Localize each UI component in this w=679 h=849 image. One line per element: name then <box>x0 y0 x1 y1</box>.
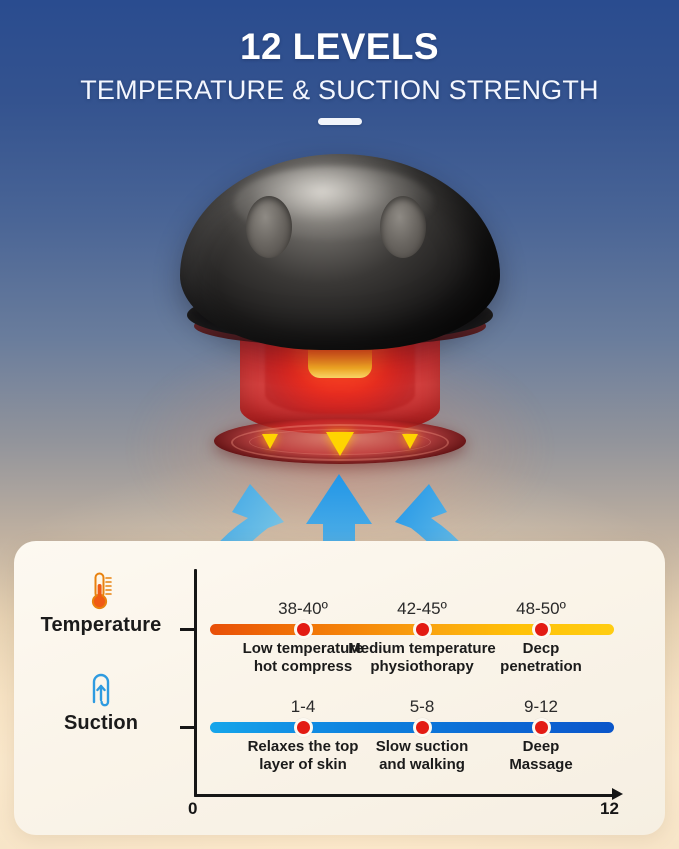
infographic-page: 12 LEVELS TEMPERATURE & SUCTION STRENGTH <box>0 0 679 849</box>
vent-hole-icon <box>246 196 292 258</box>
temperature-marker-2[interactable] <box>413 620 432 639</box>
chart-x-axis <box>194 794 614 797</box>
y-axis-tick-temperature <box>180 628 194 631</box>
suction-value-2: 5-8 <box>410 697 435 717</box>
page-subtitle: TEMPERATURE & SUCTION STRENGTH <box>0 76 679 104</box>
heat-arrow-down-icon <box>262 434 278 449</box>
suction-desc-3-line1: Deep <box>509 738 572 756</box>
suction-marker-1[interactable] <box>294 718 313 737</box>
product-image <box>0 128 679 528</box>
row-label-suction-text: Suction <box>26 712 176 735</box>
temperature-desc-3-line2: penetration <box>500 658 582 676</box>
chart-y-axis <box>194 569 197 797</box>
suction-marker-2[interactable] <box>413 718 432 737</box>
suction-value-1: 1-4 <box>291 697 316 717</box>
suction-marker-3[interactable] <box>532 718 551 737</box>
temperature-value-2: 42-45º <box>397 599 447 619</box>
suction-desc-2-line2: and walking <box>376 756 469 774</box>
temperature-desc-1-line2: hot compress <box>243 658 364 676</box>
y-axis-tick-suction <box>180 726 194 729</box>
temperature-marker-1[interactable] <box>294 620 313 639</box>
suction-desc-2-line1: Slow suction <box>376 738 469 756</box>
suction-desc-3: Deep Massage <box>509 738 572 773</box>
row-label-suction: Suction <box>26 665 176 735</box>
temperature-desc-3: Decp penetration <box>500 640 582 675</box>
suction-desc-3-line2: Massage <box>509 756 572 774</box>
temperature-value-3: 48-50º <box>516 599 566 619</box>
temperature-track[interactable] <box>210 624 614 635</box>
row-label-temperature-text: Temperature <box>26 614 176 637</box>
suction-track[interactable] <box>210 722 614 733</box>
levels-chart-card: 0 12 Temperature <box>14 541 665 835</box>
divider-dash <box>318 118 362 125</box>
suction-desc-1-line1: Relaxes the top <box>248 738 359 756</box>
suction-desc-1: Relaxes the top layer of skin <box>248 738 359 773</box>
suction-desc-1-line2: layer of skin <box>248 756 359 774</box>
row-label-temperature: Temperature <box>26 567 176 637</box>
page-title: 12 LEVELS <box>0 28 679 67</box>
heat-arrow-down-icon <box>326 432 354 456</box>
temperature-desc-1-line1: Low temperature <box>243 640 364 658</box>
temperature-desc-2-line1: Medium temperature <box>348 640 496 658</box>
suction-icon <box>26 665 176 709</box>
suction-desc-2: Slow suction and walking <box>376 738 469 773</box>
x-axis-tick-label-min: 0 <box>188 799 197 819</box>
temperature-desc-2-line2: physiothorapy <box>348 658 496 676</box>
temperature-value-1: 38-40º <box>278 599 328 619</box>
x-axis-tick-label-max: 12 <box>600 799 619 819</box>
header: 12 LEVELS TEMPERATURE & SUCTION STRENGTH <box>0 0 679 125</box>
dome-head-icon <box>180 154 500 350</box>
temperature-desc-3-line1: Decp <box>500 640 582 658</box>
temperature-desc-2: Medium temperature physiothorapy <box>348 640 496 675</box>
thermometer-icon <box>26 567 176 611</box>
vent-hole-icon <box>380 196 426 258</box>
temperature-marker-3[interactable] <box>532 620 551 639</box>
heat-arrow-down-icon <box>402 434 418 449</box>
temperature-desc-1: Low temperature hot compress <box>243 640 364 675</box>
suction-value-3: 9-12 <box>524 697 558 717</box>
